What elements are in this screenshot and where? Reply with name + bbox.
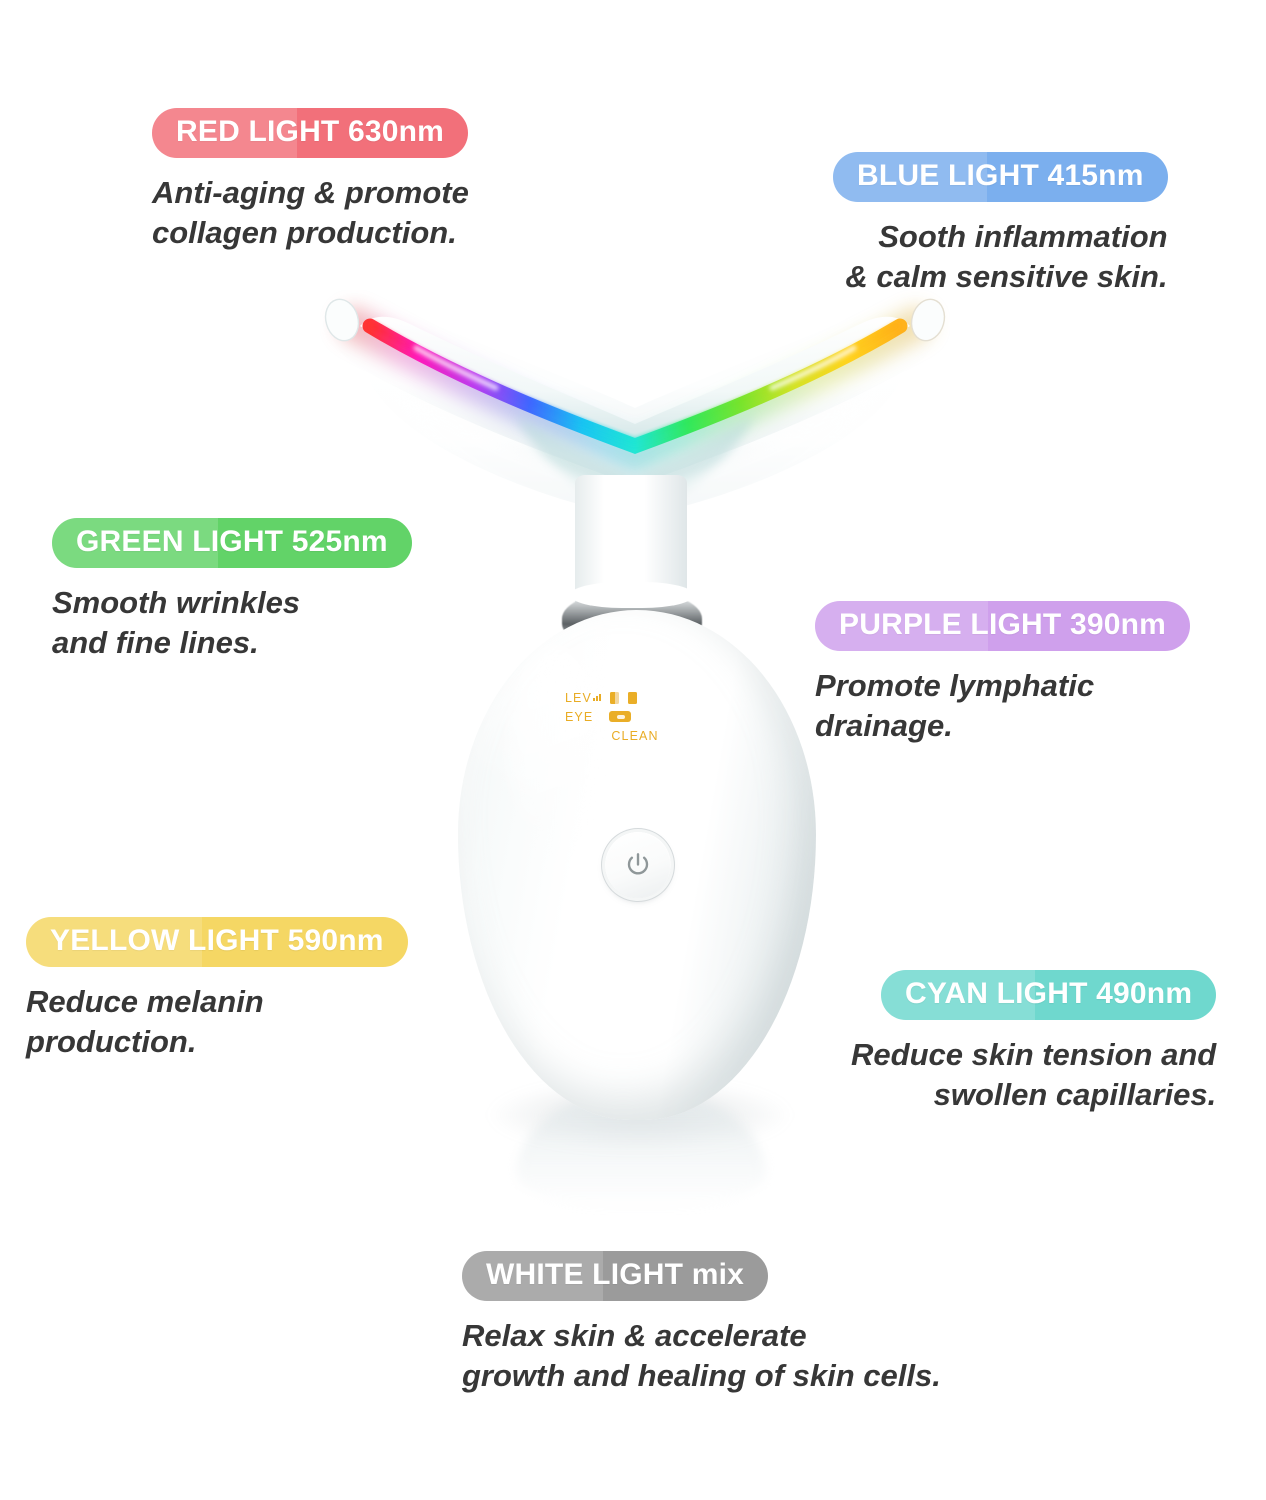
callout-green-light: GREEN LIGHT 525nm Smooth wrinkles and fi…	[52, 518, 412, 664]
badge-red-light: RED LIGHT 630nm	[152, 108, 468, 158]
callout-red-light: RED LIGHT 630nm Anti-aging & promote col…	[152, 108, 469, 254]
description-blue-light: Sooth inflammation & calm sensitive skin…	[833, 217, 1168, 299]
device-body-gloss	[508, 646, 604, 856]
callout-yellow-light: YELLOW LIGHT 590nm Reduce melanin produc…	[26, 917, 408, 1063]
signal-bars-icon	[593, 694, 601, 701]
display-label-clean: CLEAN	[611, 729, 658, 743]
callout-white-light: WHITE LIGHT mix Relax skin & accelerate …	[462, 1251, 941, 1397]
device-collar-mask	[570, 582, 694, 608]
display-row-lev: LEV	[565, 688, 705, 707]
badge-purple-light: PURPLE LIGHT 390nm	[815, 601, 1190, 651]
power-button[interactable]	[605, 832, 671, 898]
eye-mode-icon	[609, 711, 631, 722]
power-icon	[623, 850, 653, 880]
display-label-lev: LEV	[565, 691, 592, 705]
level-block-icon-1	[610, 692, 619, 704]
display-row-clean: CLEAN	[565, 726, 705, 745]
description-green-light: Smooth wrinkles and fine lines.	[52, 583, 412, 665]
display-label-eye: EYE	[565, 710, 593, 724]
level-block-icon-2	[628, 692, 637, 704]
description-yellow-light: Reduce melanin production.	[26, 982, 408, 1064]
badge-green-light: GREEN LIGHT 525nm	[52, 518, 412, 568]
display-row-eye: EYE	[565, 707, 705, 726]
description-white-light: Relax skin & accelerate growth and heali…	[462, 1316, 941, 1398]
badge-blue-light: BLUE LIGHT 415nm	[833, 152, 1168, 202]
description-cyan-light: Reduce skin tension and swollen capillar…	[851, 1035, 1216, 1117]
badge-yellow-light: YELLOW LIGHT 590nm	[26, 917, 408, 967]
callout-purple-light: PURPLE LIGHT 390nm Promote lymphatic dra…	[815, 601, 1190, 747]
infographic-page: LEV EYE CLEAN RED LIGHT 630nm Anti-aging…	[0, 0, 1266, 1500]
callout-cyan-light: CYAN LIGHT 490nm Reduce skin tension and…	[851, 970, 1216, 1116]
description-purple-light: Promote lymphatic drainage.	[815, 666, 1190, 748]
description-red-light: Anti-aging & promote collagen production…	[152, 173, 469, 255]
badge-white-light: WHITE LIGHT mix	[462, 1251, 768, 1301]
badge-cyan-light: CYAN LIGHT 490nm	[881, 970, 1216, 1020]
device-display-panel: LEV EYE CLEAN	[565, 688, 705, 745]
callout-blue-light: BLUE LIGHT 415nm Sooth inflammation & ca…	[833, 152, 1168, 298]
